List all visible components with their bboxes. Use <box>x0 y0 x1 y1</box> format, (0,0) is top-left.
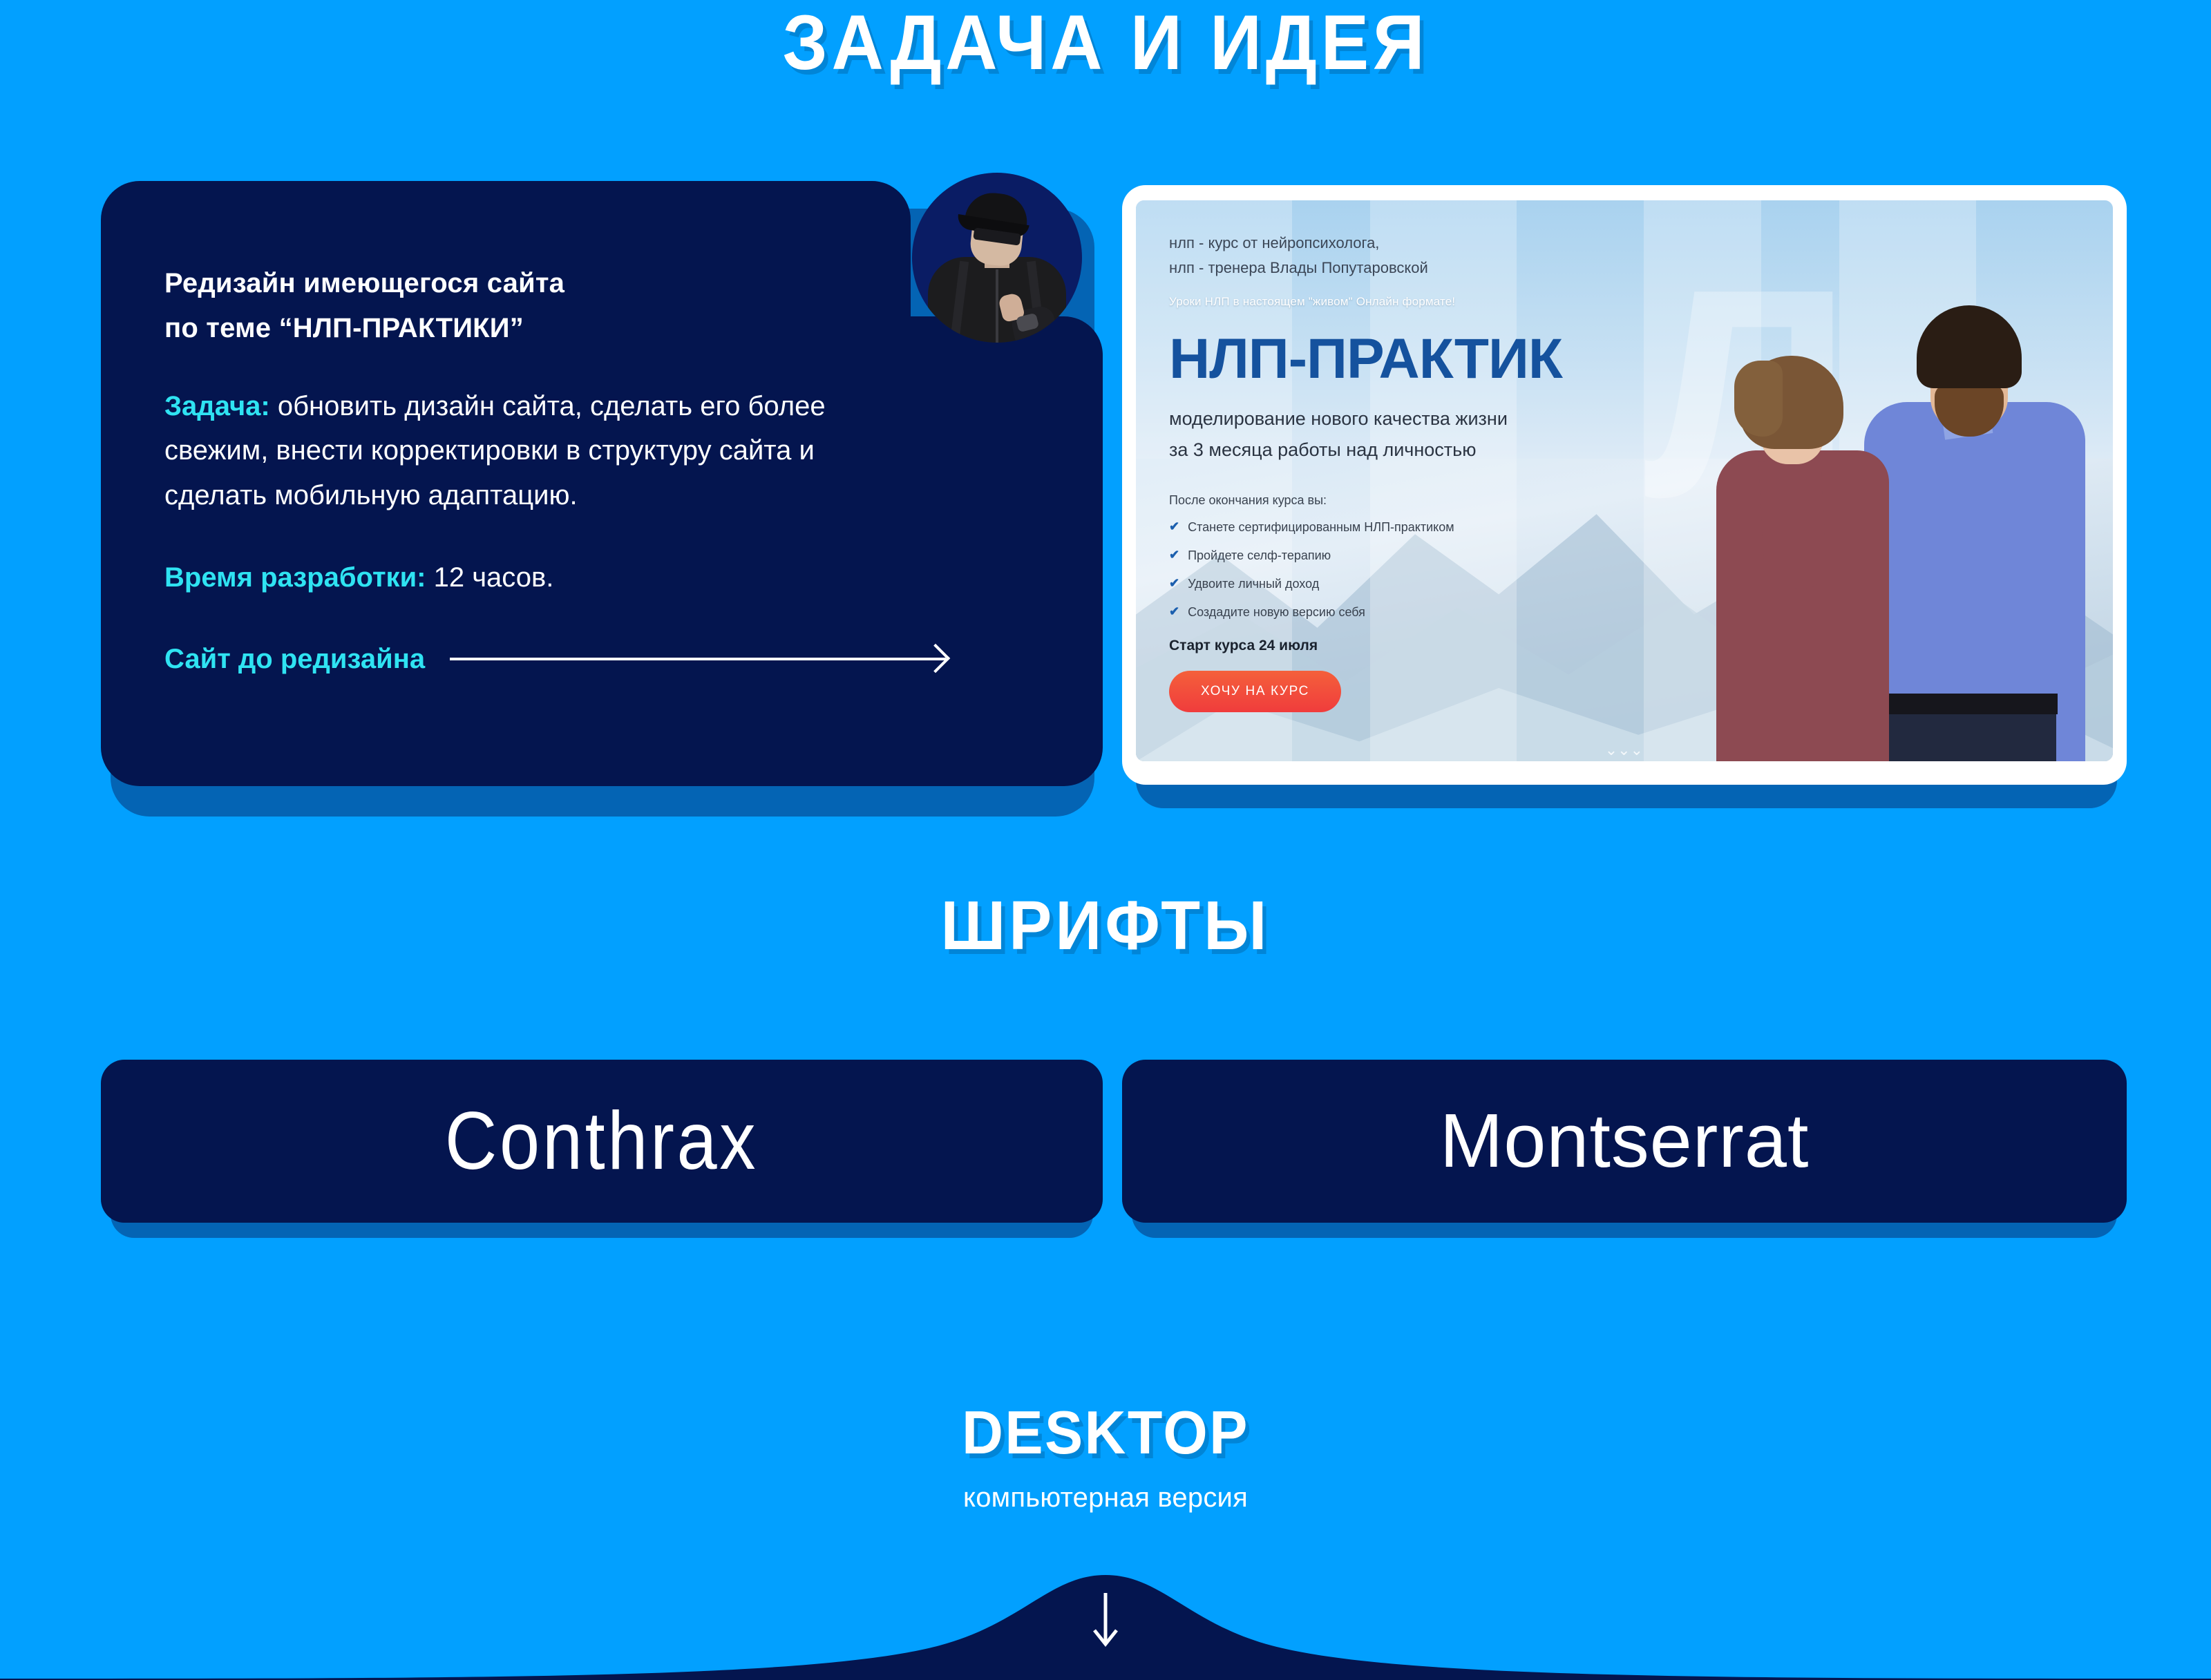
brief-heading: Редизайн имеющегося сайта по теме “НЛП-П… <box>164 261 897 351</box>
font-card-surface: Conthrax <box>101 1060 1103 1223</box>
brief-heading-line-1: Редизайн имеющегося сайта <box>164 261 897 306</box>
preview-headline: НЛП-ПРАКТИК <box>1169 330 1667 388</box>
preview-people-photo <box>1657 222 2113 761</box>
list-item: ✔ Удвоите личный доход <box>1169 577 1667 591</box>
list-item: ✔ Пройдете селф-терапию <box>1169 548 1667 563</box>
person-man-trousers <box>1885 713 2056 761</box>
avatar-jacket-zipper <box>996 269 998 343</box>
check-icon: ✔ <box>1169 548 1179 561</box>
preview-benefits-label: После окончания курса вы: <box>1169 493 1667 508</box>
site-preview-card[interactable]: Л нлп - курс от нейропсихолога, нлп - тр… <box>1122 185 2127 814</box>
person-woman-hair-side <box>1734 361 1783 437</box>
list-item: ✔ Станете сертифицированным НЛП-практико… <box>1169 520 1667 535</box>
list-item-label: Удвоите личный доход <box>1188 577 1319 591</box>
list-item-label: Создадите новую версию себя <box>1188 605 1365 620</box>
preview-lead-line-2: за 3 месяца работы над личностью <box>1169 437 1667 464</box>
person-man-hair <box>1917 305 2022 388</box>
font-card-conthrax: Conthrax <box>101 1060 1103 1239</box>
check-icon: ✔ <box>1169 605 1179 618</box>
avatar <box>912 173 1082 343</box>
list-item-label: Пройдете селф-терапию <box>1188 548 1331 563</box>
preview-subtitle-line-1: нлп - курс от нейропсихолога, <box>1169 231 1667 256</box>
arrow-down-icon <box>1090 1590 1121 1650</box>
check-icon: ✔ <box>1169 520 1179 533</box>
preview-cta-button[interactable]: ХОЧУ НА КУРС <box>1169 671 1341 712</box>
brief-task-paragraph: Задача: обновить дизайн сайта, сделать е… <box>164 384 897 518</box>
before-redesign-link[interactable]: Сайт до редизайна <box>164 644 897 675</box>
brief-time-label: Время разработки: <box>164 562 426 593</box>
brief-time-paragraph: Время разработки: 12 часов. <box>164 557 897 598</box>
person-woman-lapel <box>1758 459 1828 590</box>
desktop-title: DESKTOP <box>66 1402 2145 1463</box>
desktop-subtitle: компьютерная версия <box>0 1482 2211 1514</box>
font-name-label: Conthrax <box>445 1100 758 1183</box>
preview-tagline: Уроки НЛП в настоящем "живом" Онлайн фор… <box>1169 295 1667 309</box>
brief-heading-line-2: по теме “НЛП-ПРАКТИКИ” <box>164 306 897 351</box>
site-preview-screen: Л нлп - курс от нейропсихолога, нлп - тр… <box>1136 200 2113 761</box>
preview-benefits-list: ✔ Станете сертифицированным НЛП-практико… <box>1169 520 1667 620</box>
font-card-surface: Montserrat <box>1122 1060 2127 1223</box>
list-item-label: Станете сертифицированным НЛП-практиком <box>1188 520 1454 535</box>
scroll-down-arrow-icon[interactable] <box>1090 1590 1121 1650</box>
check-icon: ✔ <box>1169 577 1179 589</box>
desktop-section: DESKTOP компьютерная версия <box>0 1402 2211 1514</box>
page-title-task-and-idea: ЗАДАЧА И ИДЕЯ <box>77 4 2134 82</box>
preview-lead-line-1: моделирование нового качества жизни <box>1169 405 1667 433</box>
site-preview-frame: Л нлп - курс от нейропсихолога, нлп - тр… <box>1122 185 2127 785</box>
list-item: ✔ Создадите новую версию себя <box>1169 605 1667 620</box>
brief-task-label: Задача: <box>164 391 270 421</box>
page-title-fonts: ШРИФТЫ <box>77 891 2134 960</box>
brief-content: Редизайн имеющегося сайта по теме “НЛП-П… <box>164 261 897 675</box>
preview-course-start-date: Старт курса 24 июля <box>1169 638 1667 654</box>
avatar-photo <box>912 173 1082 343</box>
font-card-montserrat: Montserrat <box>1122 1060 2127 1239</box>
font-name-label: Montserrat <box>1440 1103 1810 1179</box>
before-redesign-link-label: Сайт до редизайна <box>164 644 425 675</box>
brief-time-value: 12 часов. <box>426 562 553 593</box>
chevron-down-icon: ⌄⌄⌄ <box>1605 745 1643 756</box>
preview-subtitle-line-2: нлп - тренера Влады Попутаровской <box>1169 256 1667 280</box>
arrow-right-icon <box>450 658 946 660</box>
person-man-belt <box>1885 694 2058 714</box>
preview-copy-block: нлп - курс от нейропсихолога, нлп - трен… <box>1169 231 1667 712</box>
